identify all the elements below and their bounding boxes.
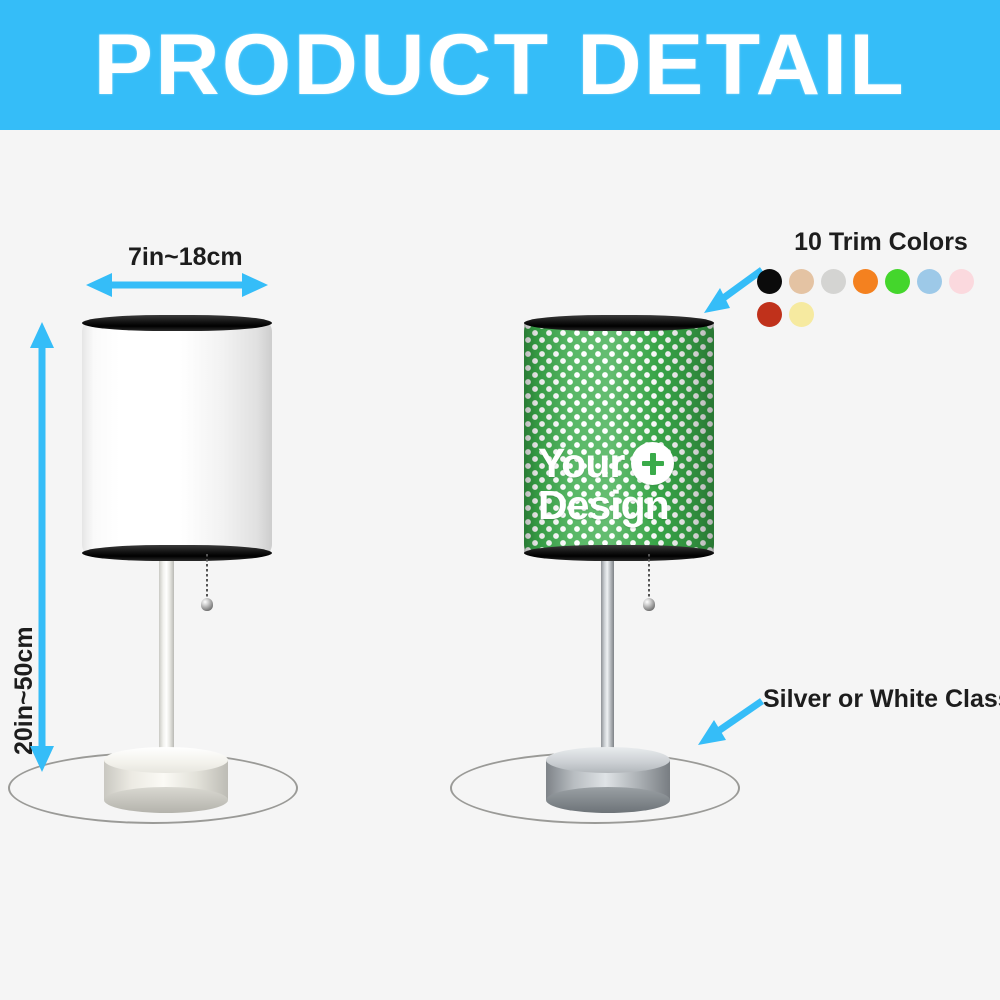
artwork-line-1: Your [538, 443, 624, 483]
base-bottom [546, 787, 670, 813]
lamp-pole-left [159, 550, 174, 765]
base-bottom [104, 787, 228, 813]
header-banner: PRODUCT DETAIL [0, 0, 1000, 130]
shade-trim-bottom [524, 545, 714, 561]
shade-trim-top [524, 315, 714, 331]
trim-swatch-pink[interactable] [949, 269, 974, 294]
lampshade-right: Your Design [524, 322, 714, 554]
base-top [104, 747, 228, 773]
trim-color-swatch-list[interactable] [757, 269, 1000, 327]
lamp-base-left [104, 747, 228, 813]
product-stage: Your Design [0, 130, 1000, 1000]
trim-swatch-black[interactable] [757, 269, 782, 294]
trim-swatch-green[interactable] [885, 269, 910, 294]
width-dimension-arrow [86, 273, 268, 297]
lamp-pole-right [601, 550, 614, 765]
chain-line [648, 554, 650, 600]
lampshade-left [82, 322, 272, 554]
shade-trim-bottom [82, 545, 272, 561]
chain-line [206, 554, 208, 600]
base-top [546, 747, 670, 773]
trim-swatch-light-gray[interactable] [821, 269, 846, 294]
trim-pointer-arrow [704, 270, 762, 313]
artwork-line-2: Design [538, 485, 674, 525]
trim-colors-panel: 10 Trim Colors [757, 228, 1000, 327]
plus-icon [631, 442, 674, 485]
trim-swatch-tan[interactable] [789, 269, 814, 294]
base-finish-pointer-arrow [698, 701, 762, 745]
base-finish-caption: Silver or White Classy [763, 685, 1000, 714]
shade-surface [82, 322, 272, 554]
width-dimension-label: 7in~18cm [128, 243, 243, 272]
trim-swatch-orange[interactable] [853, 269, 878, 294]
lamp-base-right [546, 747, 670, 813]
your-design-artwork: Your Design [538, 442, 674, 525]
shade-trim-top [82, 315, 272, 331]
page-title: PRODUCT DETAIL [94, 22, 907, 108]
chain-ball [201, 598, 213, 611]
trim-swatch-yellow[interactable] [789, 302, 814, 327]
height-dimension-label: 20in~50cm [10, 626, 39, 755]
artwork-line-1-row: Your [538, 442, 674, 485]
trim-swatch-dark-red[interactable] [757, 302, 782, 327]
chain-ball [643, 598, 655, 611]
trim-swatch-light-blue[interactable] [917, 269, 942, 294]
trim-colors-title: 10 Trim Colors [757, 228, 1000, 257]
